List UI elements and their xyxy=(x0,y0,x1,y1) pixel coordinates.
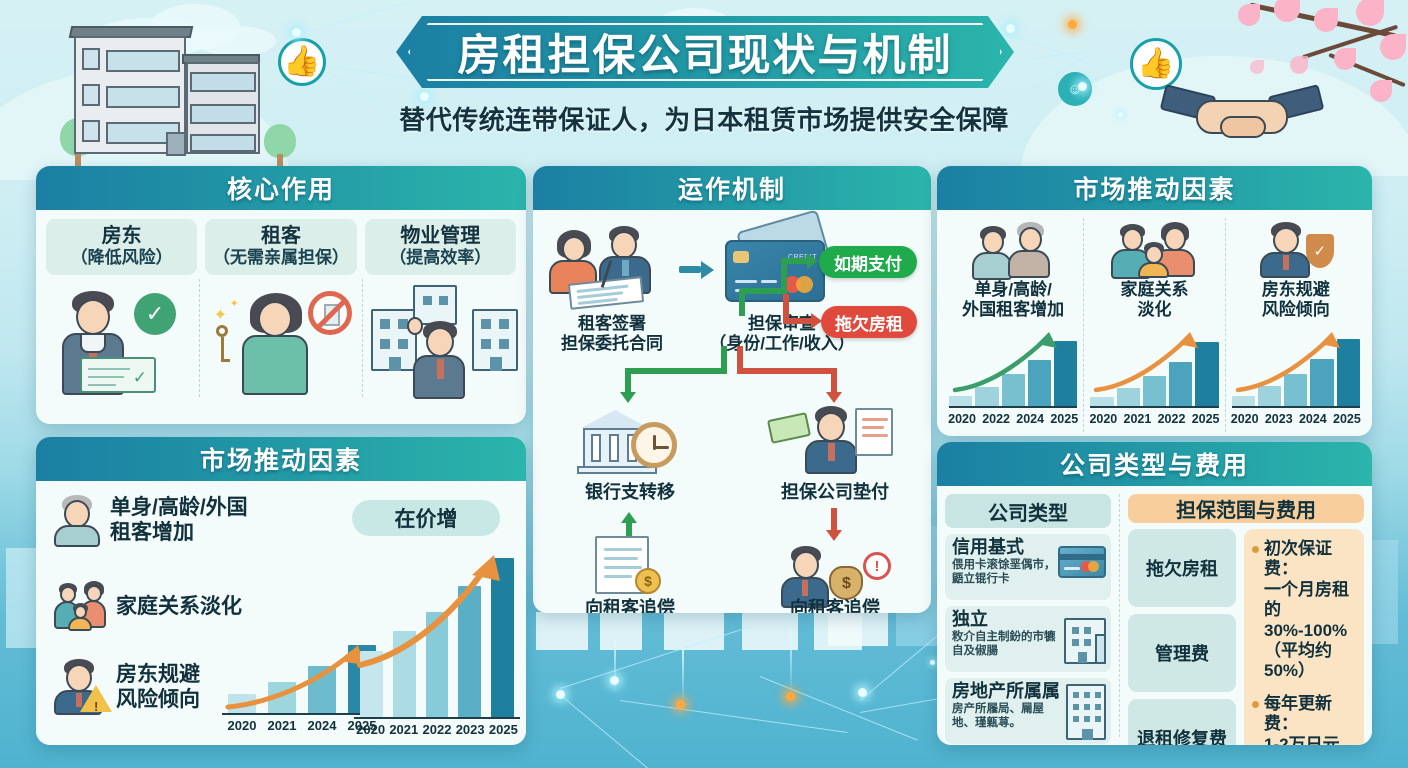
guarantor-payout-icon xyxy=(769,406,895,476)
sparkle-icon: ✦ xyxy=(230,297,239,310)
chart-year-labels: 2020 2022 2024 2025 xyxy=(945,412,1081,426)
elderly-person-icon xyxy=(54,495,100,545)
company-fees-column: 担保范围与费用 拖欠房租 管理费 退租修复费 初次保证费： xyxy=(1120,494,1364,737)
panel-market-drivers-top-heading: 市场推动因素 xyxy=(937,166,1372,210)
panel-mechanism: 运作机制 xyxy=(533,166,931,613)
outcome-overdue-badge[interactable]: 拖欠房租 xyxy=(821,306,917,338)
market-driver-chart xyxy=(949,330,1077,408)
market-bottom-large-chart: 2020 2021 2022 2023 2025 xyxy=(354,547,520,737)
fee-note-text: 初次保证费： 一个月房租的 30%-100% （平均约50%） xyxy=(1264,539,1356,682)
company-type-card[interactable]: 信用基式 偎用卡滚馀垩偶市，鼯立锟行卡 xyxy=(945,534,1111,600)
core-role-subtitle: （提高效率） xyxy=(367,248,514,268)
panel-mechanism-body: 租客签署 担保委托合同 CREDIT xyxy=(533,210,931,613)
chart-axis xyxy=(354,717,520,720)
outcome-paid-badge[interactable]: 如期支付 xyxy=(819,246,917,278)
company-type-desc: 敉介自主制鈖的市犥自及俶腸 xyxy=(952,630,1056,659)
core-role-card[interactable]: 物业管理 （提高效率） xyxy=(365,219,516,275)
company-types-subheading: 公司类型 xyxy=(945,494,1111,528)
building-icon xyxy=(472,309,518,371)
market-driver-row[interactable]: 家庭关系淡化 xyxy=(54,581,242,633)
chart-axis xyxy=(1232,406,1360,409)
page-subtitle: 替代传统连带保证人，为日本租赁市场提供安全保障 xyxy=(0,100,1408,137)
market-driver-column[interactable]: 家庭关系 淡化 xyxy=(1084,218,1225,432)
price-growth-tag: 在价增 xyxy=(352,500,500,536)
infographic-canvas: 👍 👍 ☺ xyxy=(0,0,1408,768)
elderly-pair-icon xyxy=(972,220,1054,276)
market-driver-column[interactable]: 单身/高龄/ 外国租客增加 xyxy=(943,218,1084,432)
mechanism-guarantor-label: 担保公司垫付 xyxy=(755,482,915,503)
panel-core-roles-heading: 核心作用 xyxy=(36,166,526,210)
panel-core-roles-body: 房东 （降低风险） 租客 （无需亲属担保） 物业管理 （提高效率） xyxy=(36,210,526,424)
certificate-icon: ✓ xyxy=(80,357,156,393)
office-building-icon xyxy=(1064,618,1106,664)
core-role-card[interactable]: 房东 （降低风险） xyxy=(46,219,197,275)
company-columns: 公司类型 信用基式 偎用卡滚馀垩偶市，鼯立锟行卡 xyxy=(937,486,1372,745)
credit-card-icon xyxy=(1058,546,1106,578)
property-manager-icon xyxy=(363,279,526,397)
bullet-dot-icon xyxy=(1252,701,1259,708)
contract-signing-icon xyxy=(547,224,675,310)
chart-year-labels: 2020 2023 2024 2025 xyxy=(1228,412,1364,426)
fee-item[interactable]: 退租修复费 xyxy=(1128,699,1236,745)
company-types-column: 公司类型 信用基式 偎用卡滚馀垩偶市，鼯立锟行卡 xyxy=(945,494,1120,737)
mechanism-bank-label: 银行支转移 xyxy=(555,482,705,503)
core-role-title: 房东 xyxy=(48,225,195,248)
core-role-subtitle: （无需亲属担保） xyxy=(207,248,354,268)
core-role-title: 物业管理 xyxy=(367,225,514,248)
thumbs-up-icon: 👍 xyxy=(1130,38,1182,90)
market-driver-label: 家庭关系 淡化 xyxy=(1084,280,1224,321)
woman-with-keys-icon: ✦ ✦ xyxy=(200,279,364,397)
chart-axis xyxy=(1090,406,1218,409)
mechanism-recover-bank-label: 向租客追偿 xyxy=(555,598,705,613)
invoice-coin-icon: $ xyxy=(587,536,673,598)
core-role-card[interactable]: 租客 （无需亲属担保） xyxy=(205,219,356,275)
landlord-shield-icon: ✓ xyxy=(1256,220,1336,276)
market-driver-row-text: 房东规避 风险倾向 xyxy=(116,662,200,712)
market-driver-row[interactable]: ! 房东规避 风险倾向 xyxy=(54,659,200,715)
family-icon xyxy=(54,581,106,633)
fee-item-list: 拖欠房租 管理费 退租修复费 xyxy=(1128,529,1236,745)
core-role-subtitle: （降低风险） xyxy=(48,248,195,268)
panel-mechanism-heading: 运作机制 xyxy=(533,166,931,210)
company-scope-subheading: 担保范围与费用 xyxy=(1128,494,1364,523)
panel-company-heading: 公司类型与费用 xyxy=(937,442,1372,486)
sparkle-icon: ✦ xyxy=(214,305,227,325)
chart-year-labels: 2020 2021 2022 2025 xyxy=(1086,412,1222,426)
panel-company-types-fees: 公司类型与费用 公司类型 信用基式 偎用卡滚馀垩偶市，鼯立锟行卡 xyxy=(937,442,1372,745)
panel-market-drivers-bottom: 市场推动因素 单身/高龄/外国 租客增加 xyxy=(36,437,526,745)
company-type-card[interactable]: 房地产所属属 房产所屩局、屚屋地、瑾甈荨。 xyxy=(945,678,1111,744)
thumbs-up-icon: 👍 xyxy=(278,38,326,86)
panel-market-drivers-bottom-heading: 市场推动因素 xyxy=(36,437,526,481)
keys-icon xyxy=(216,325,230,362)
panel-core-roles: 核心作用 房东 （降低风险） 租客 （无需亲属担保） 物业管理 （提高效率） xyxy=(36,166,526,424)
fee-note: 初次保证费： 一个月房租的 30%-100% （平均约50%） xyxy=(1252,539,1356,682)
title-banner: 房租担保公司现状与机制 xyxy=(396,16,1014,88)
company-type-desc: 房产所屩局、屚屋地、瑾甈荨。 xyxy=(952,702,1056,731)
apartment-building-icon xyxy=(1066,684,1106,740)
landlord-warning-icon: ! xyxy=(54,659,106,715)
chart-axis xyxy=(949,406,1077,409)
market-driver-row-text: 家庭关系淡化 xyxy=(116,594,242,619)
market-driver-label: 房东规避 风险倾向 xyxy=(1226,280,1366,321)
market-driver-chart xyxy=(1090,330,1218,408)
market-driver-label: 单身/高龄/ 外国租客增加 xyxy=(943,280,1083,321)
chart-bars xyxy=(949,332,1077,406)
core-role-illustrations: ✓ ✓ ✦ ✦ xyxy=(36,279,526,397)
chart-bars xyxy=(1232,332,1360,406)
core-role-card-list: 房东 （降低风险） 租客 （无需亲属担保） 物业管理 （提高效率） xyxy=(36,210,526,275)
core-role-title: 租客 xyxy=(207,225,354,248)
fee-note: 每年更新费： 1-2万日元 xyxy=(1252,694,1356,745)
panel-market-drivers-top: 市场推动因素 xyxy=(937,166,1372,436)
panel-company-body: 公司类型 信用基式 偎用卡滚馀垩偶市，鼯立锟行卡 xyxy=(937,486,1372,745)
fee-notes-panel: 初次保证费： 一个月房租的 30%-100% （平均约50%） 每年更新费： xyxy=(1244,529,1364,745)
businessman-with-certificate-icon: ✓ ✓ xyxy=(36,279,200,397)
chart-bars xyxy=(1090,332,1218,406)
market-driver-row[interactable]: 单身/高龄/外国 租客增加 xyxy=(54,495,248,545)
shield-icon: ✓ xyxy=(1306,234,1334,268)
bullet-dot-icon xyxy=(1252,546,1259,553)
fee-item[interactable]: 管理费 xyxy=(1128,614,1236,692)
fee-columns: 拖欠房租 管理费 退租修复费 初次保证费： 一个月房租的 30%-100% xyxy=(1128,529,1364,745)
market-driver-columns: 单身/高龄/ 外国租客增加 xyxy=(937,210,1372,436)
mechanism-recover-tenant-label: 向租客追偿 xyxy=(755,598,915,613)
fee-item[interactable]: 拖欠房租 xyxy=(1128,529,1236,607)
market-driver-column[interactable]: ✓ 房东规避 风险倾向 xyxy=(1226,218,1366,432)
mechanism-step1-label: 租客签署 担保委托合同 xyxy=(539,314,685,354)
fee-note-text: 每年更新费： 1-2万日元 xyxy=(1264,694,1356,745)
bank-clock-icon xyxy=(575,410,685,476)
chart-year-labels: 2020 2021 2022 2023 2025 xyxy=(354,722,520,737)
market-driver-row-text: 单身/高龄/外国 租客增加 xyxy=(110,495,248,545)
family-icon xyxy=(1111,220,1197,276)
page-title: 房租担保公司现状与机制 xyxy=(396,16,1014,88)
company-type-card[interactable]: 独立 敉介自主制鈖的市犥自及俶腸 xyxy=(945,606,1111,672)
company-type-desc: 偎用卡滚馀垩偶市，鼯立锟行卡 xyxy=(952,558,1056,587)
no-relative-guarantor-icon xyxy=(308,291,352,335)
panel-market-drivers-top-body: 单身/高龄/ 外国租客增加 xyxy=(937,210,1372,436)
verified-badge-icon: ✓ xyxy=(134,293,176,335)
upward-trend-arrow-icon xyxy=(354,547,520,717)
market-driver-chart xyxy=(1232,330,1360,408)
